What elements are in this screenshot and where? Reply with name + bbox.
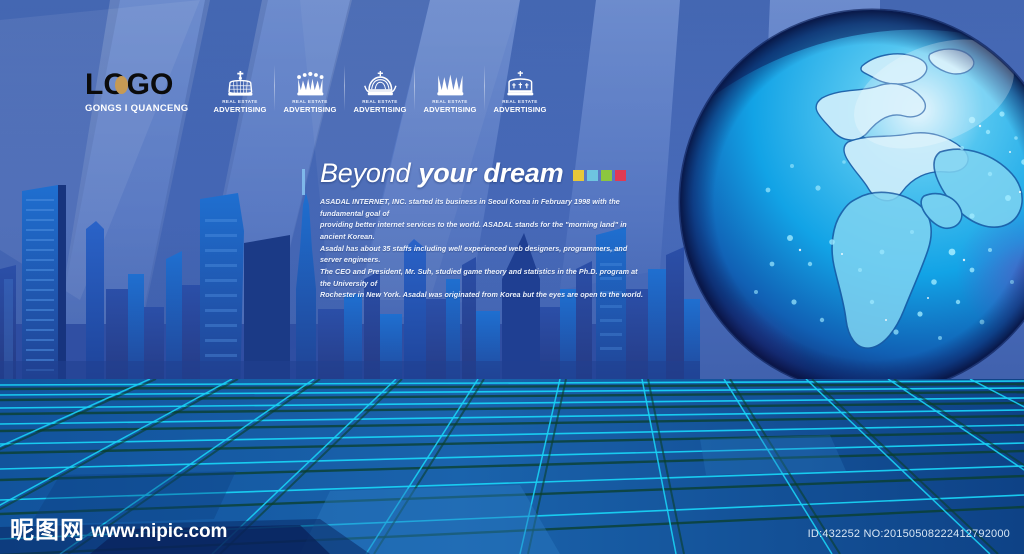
badge-line1: REAL ESTATE bbox=[222, 100, 258, 105]
copy-block: Beyond your dream ASADAL INTERNET, INC. … bbox=[320, 160, 650, 301]
paragraph-line-1: ASADAL INTERNET, INC. started its busine… bbox=[320, 196, 650, 219]
crown-spikes-beads-icon bbox=[293, 71, 328, 97]
poster-canvas: LOGO GONGS I QUANCENG bbox=[0, 0, 1024, 554]
paragraph-line-5: Rochester in New York. Asadal was origin… bbox=[320, 289, 650, 301]
swatch-lightblue bbox=[587, 170, 598, 181]
paragraph-line-3: Asadal has about 35 staffs including wel… bbox=[320, 243, 650, 266]
crown-badge-1[interactable]: REAL ESTATE ADVERTISING bbox=[205, 71, 275, 114]
badge-line1: REAL ESTATE bbox=[432, 100, 468, 105]
badge-line2: ADVERTISING bbox=[424, 106, 477, 114]
crown-badge-list: REAL ESTATE ADVERTISING REAL ESTATE ADVE… bbox=[205, 71, 555, 114]
watermark: 昵图网 www.nipic.com bbox=[10, 518, 227, 542]
swatch-red bbox=[615, 170, 626, 181]
crown-plain-points-icon bbox=[433, 71, 468, 97]
headline-light: Beyond bbox=[320, 160, 410, 187]
crown-badge-2[interactable]: REAL ESTATE ADVERTISING bbox=[275, 71, 345, 114]
logo-block: LOGO GONGS I QUANCENG bbox=[85, 70, 189, 114]
badge-line1: REAL ESTATE bbox=[502, 100, 538, 105]
crown-mesh-cross-icon bbox=[223, 71, 258, 97]
headline-bold: your dream bbox=[418, 160, 563, 187]
watermark-chinese-logo: 昵图网 bbox=[10, 518, 85, 542]
logo-text: LOGO bbox=[85, 68, 173, 101]
crown-royal-arch-icon bbox=[363, 71, 398, 97]
badge-line2: ADVERTISING bbox=[214, 106, 267, 114]
headline: Beyond your dream bbox=[320, 160, 650, 187]
crown-imperial-cross-icon bbox=[503, 71, 538, 97]
body-paragraph: ASADAL INTERNET, INC. started its busine… bbox=[320, 196, 650, 301]
watermark-url: www.nipic.com bbox=[91, 522, 227, 542]
paragraph-line-4: The CEO and President, Mr. Suh, studied … bbox=[320, 266, 650, 289]
badge-line2: ADVERTISING bbox=[494, 106, 547, 114]
brand-header: LOGO GONGS I QUANCENG bbox=[85, 70, 555, 114]
swatch-yellow bbox=[573, 170, 584, 181]
crown-badge-4[interactable]: REAL ESTATE ADVERTISING bbox=[415, 71, 485, 114]
badge-line1: REAL ESTATE bbox=[292, 100, 328, 105]
badge-line1: REAL ESTATE bbox=[362, 100, 398, 105]
paragraph-line-2: providing better internet services to th… bbox=[320, 219, 650, 242]
crown-badge-5[interactable]: REAL ESTATE ADVERTISING bbox=[485, 71, 555, 114]
globe-svg bbox=[672, 2, 1024, 402]
crown-badge-3[interactable]: REAL ESTATE ADVERTISING bbox=[345, 71, 415, 114]
color-swatch-row bbox=[573, 170, 626, 181]
gold-oval-icon bbox=[115, 76, 128, 94]
globe-graphic bbox=[672, 2, 1024, 402]
badge-line2: ADVERTISING bbox=[284, 106, 337, 114]
image-id-text: ID:432252 NO:20150508222412792000 bbox=[808, 528, 1010, 540]
logo-wordmark: LOGO bbox=[85, 70, 189, 100]
badge-line2: ADVERTISING bbox=[354, 106, 407, 114]
swatch-green bbox=[601, 170, 612, 181]
logo-subtitle: GONGS I QUANCENG bbox=[85, 103, 189, 114]
